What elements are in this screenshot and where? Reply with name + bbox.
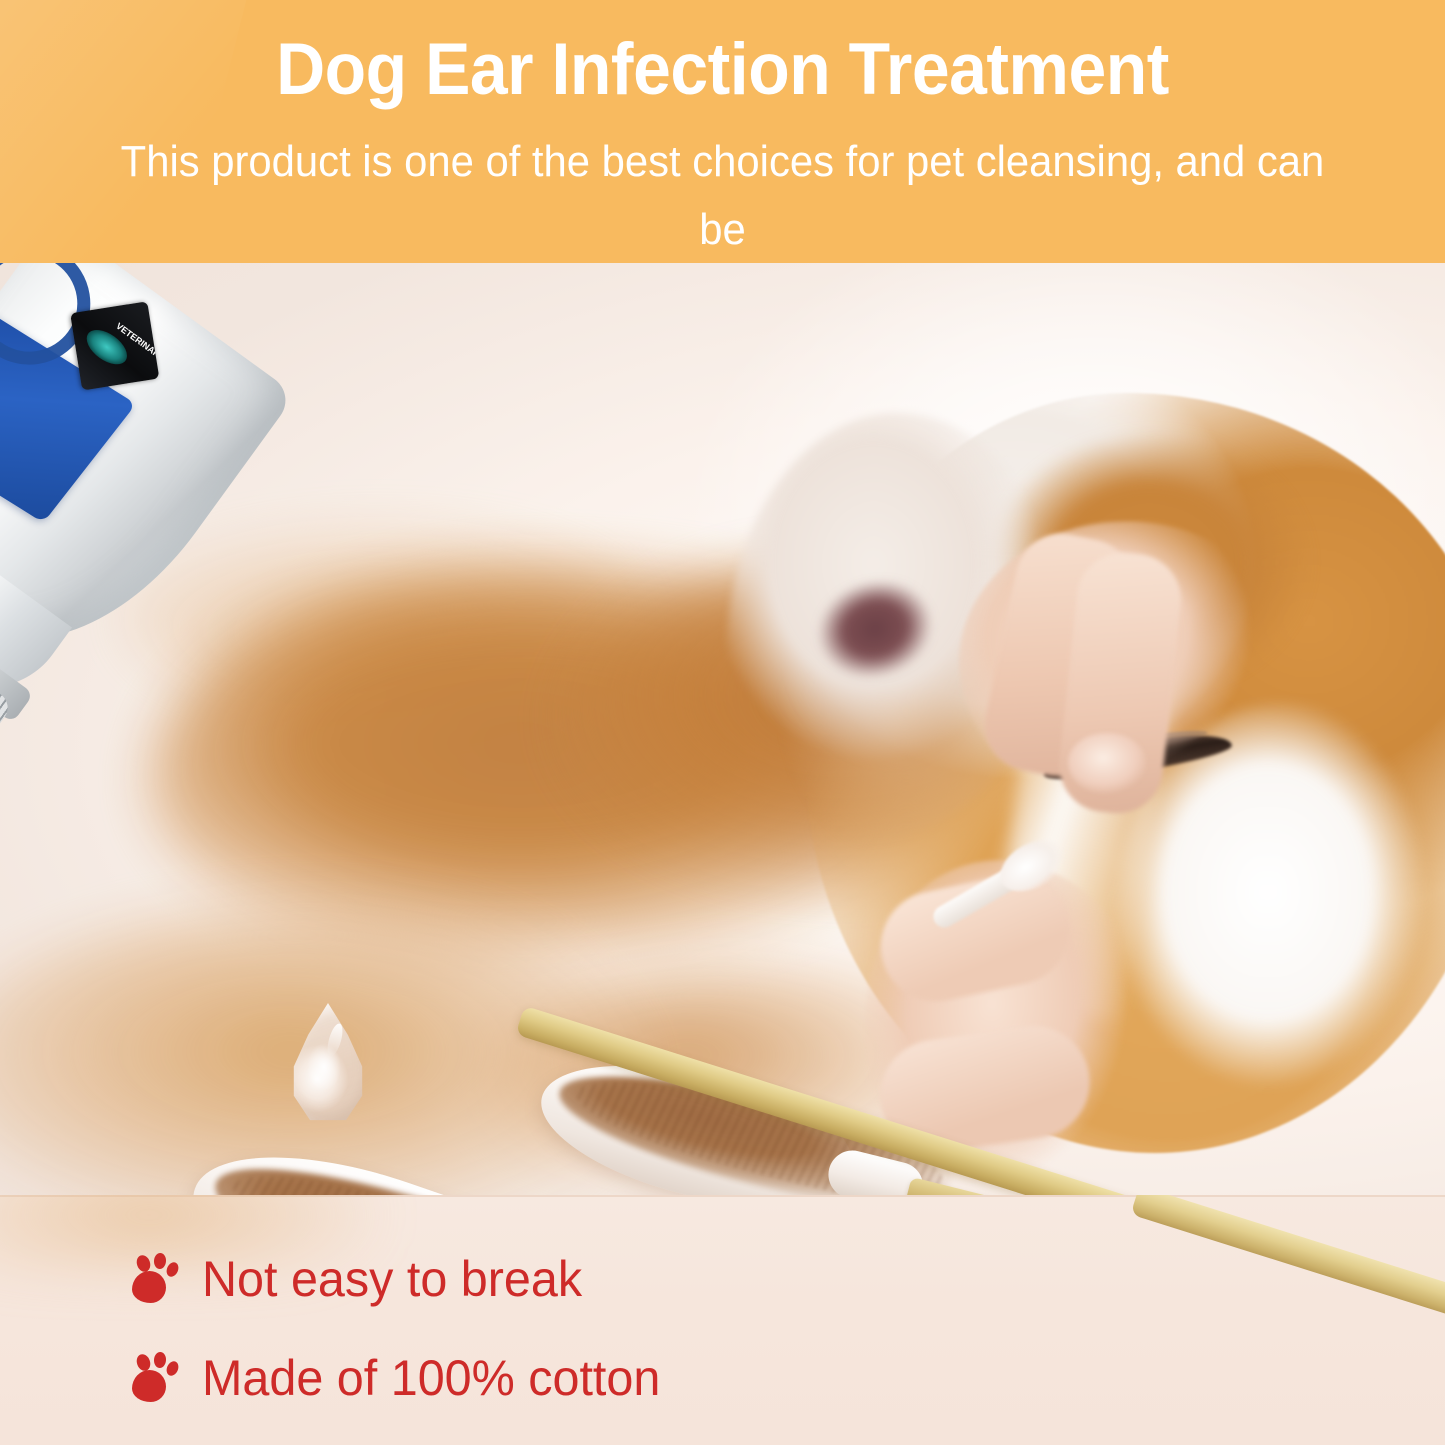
subtitle-line-1: This product is one of the best choices … bbox=[93, 128, 1352, 263]
feature-item-made-of-cotton: Made of 100% cotton bbox=[0, 1350, 675, 1406]
paw-toe-3 bbox=[164, 1359, 180, 1377]
paw-toe-2 bbox=[153, 1252, 166, 1269]
header-subtitle: This product is one of the best choices … bbox=[93, 128, 1352, 263]
veterinary-badge-icon: VETERINARY bbox=[70, 301, 159, 390]
product-marketing-image: Dog Ear Infection Treatment This product… bbox=[0, 0, 1445, 1445]
feature-item-high-water-absorption: High Water Absorption bbox=[675, 1251, 1445, 1307]
paw-pad bbox=[132, 1370, 166, 1402]
paw-pad bbox=[132, 1271, 166, 1303]
header-banner: Dog Ear Infection Treatment This product… bbox=[0, 0, 1445, 263]
paw-toe-3 bbox=[164, 1260, 180, 1278]
feature-grid: Not easy to break High Water Absorption bbox=[0, 1195, 1445, 1445]
feature-label: Made of 100% cotton bbox=[202, 1350, 660, 1406]
feature-item-smooth-without-barbs: Smooth without barbs bbox=[675, 1350, 1445, 1406]
page-title: Dog Ear Infection Treatment bbox=[51, 28, 1395, 112]
product-photo: VETERINARY bbox=[0, 263, 1445, 1195]
feature-item-not-easy-to-break: Not easy to break bbox=[0, 1251, 675, 1307]
feature-label: Not easy to break bbox=[202, 1251, 582, 1307]
paw-toe-2 bbox=[153, 1351, 166, 1368]
paw-icon bbox=[130, 1253, 180, 1305]
fingernail bbox=[1068, 733, 1146, 795]
paw-icon bbox=[130, 1352, 180, 1404]
liquid-droplet bbox=[283, 1003, 373, 1125]
feature-list-panel: Not easy to break High Water Absorption bbox=[0, 1195, 1445, 1445]
